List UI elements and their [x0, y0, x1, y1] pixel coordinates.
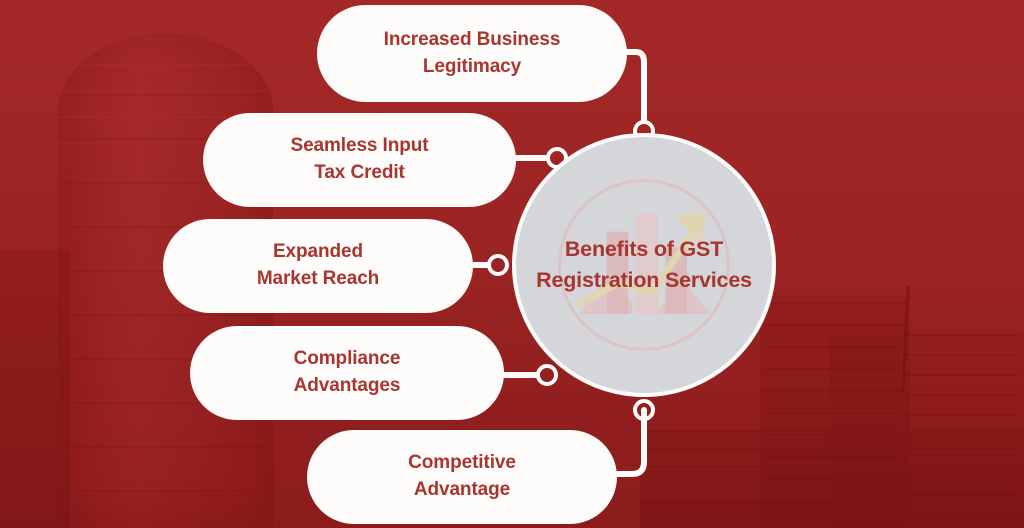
benefit-pill-seamless-input-tax-credit[interactable]: Seamless Input Tax Credit: [203, 113, 516, 207]
benefit-line-2: Advantage: [408, 477, 516, 504]
benefit-line-1: Seamless Input: [291, 135, 429, 156]
gst-benefits-infographic: Benefits of GST Registration Services In…: [0, 0, 1024, 528]
benefit-pill-text: Compliance Advantages: [294, 346, 401, 400]
benefit-line-2: Advantages: [294, 373, 401, 400]
hub-title-line-1: Benefits of GST: [565, 237, 723, 261]
benefit-pill-text: Increased Business Legitimacy: [384, 27, 561, 81]
hub-title-line-2: Registration Services: [518, 265, 770, 296]
benefit-pill-expanded-market-reach[interactable]: Expanded Market Reach: [163, 219, 473, 313]
central-hub-circle[interactable]: Benefits of GST Registration Services: [512, 133, 776, 397]
benefit-pill-text: Expanded Market Reach: [257, 239, 379, 293]
benefit-line-2: Market Reach: [257, 266, 379, 293]
benefit-line-1: Compliance: [294, 348, 401, 369]
benefit-pill-text: Seamless Input Tax Credit: [291, 133, 429, 187]
benefit-pill-compliance-advantages[interactable]: Compliance Advantages: [190, 326, 504, 420]
benefit-line-1: Increased Business: [384, 29, 561, 50]
benefit-pill-text: Competitive Advantage: [408, 450, 516, 504]
benefit-line-1: Expanded: [273, 241, 363, 262]
benefit-line-2: Tax Credit: [291, 160, 429, 187]
benefit-line-2: Legitimacy: [384, 54, 561, 81]
benefit-pill-competitive-advantage[interactable]: Competitive Advantage: [307, 430, 617, 524]
node-ring-5: [633, 399, 655, 421]
node-ring-4: [536, 364, 558, 386]
node-ring-3: [487, 254, 509, 276]
benefit-line-1: Competitive: [408, 452, 516, 473]
benefit-pill-increased-business-legitimacy[interactable]: Increased Business Legitimacy: [317, 5, 627, 102]
hub-title: Benefits of GST Registration Services: [518, 234, 770, 295]
